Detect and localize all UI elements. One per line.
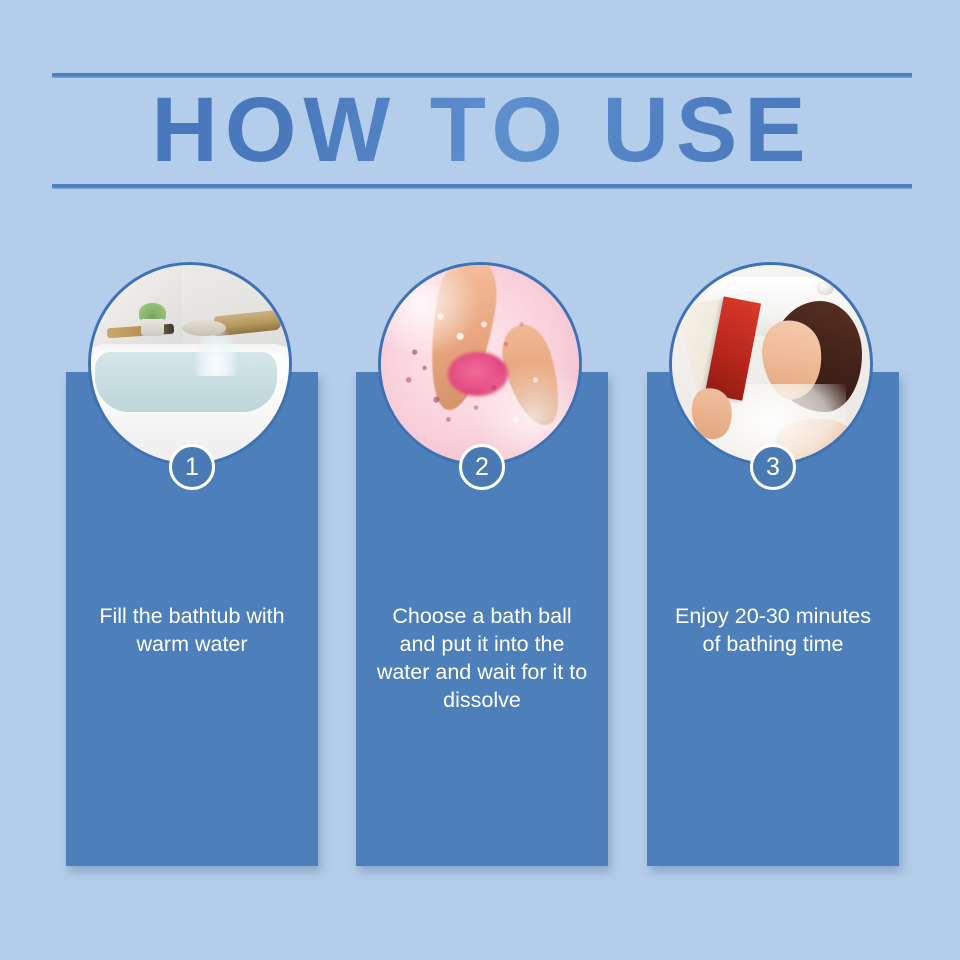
bathtub-filling-image: [91, 265, 289, 463]
potted-plant: [137, 303, 169, 337]
tub-water: [95, 352, 277, 411]
bath-bomb-dissolving-image: [381, 265, 579, 463]
step-card-1: 1 Fill the bathtub with warm water: [66, 262, 318, 882]
step-number-badge-1: 1: [169, 444, 215, 490]
fizz-bubbles: [381, 265, 579, 463]
step-photo-1: [88, 262, 292, 466]
step-card-3: 3 Enjoy 20-30 minutes of bathing time: [647, 262, 899, 882]
step-caption-1: Fill the bathtub with warm water: [74, 602, 310, 658]
step-number-badge-3: 3: [750, 444, 796, 490]
step-photo-2: [378, 262, 582, 466]
step-number-badge-2: 2: [459, 444, 505, 490]
plant-pot: [141, 319, 164, 337]
step-card-2: 2 Choose a bath ball and put it into the…: [356, 262, 608, 882]
step-photo-3: [669, 262, 873, 466]
step-caption-2: Choose a bath ball and put it into the w…: [364, 602, 600, 714]
woman-bathing-image: [672, 265, 870, 463]
tub-knob-icon: [817, 281, 835, 295]
steps-row: 1 Fill the bathtub with warm water 2 Cho…: [0, 0, 960, 960]
how-to-use-infographic: HOW TO USE: [0, 0, 960, 960]
step-caption-3: Enjoy 20-30 minutes of bathing time: [655, 602, 891, 658]
